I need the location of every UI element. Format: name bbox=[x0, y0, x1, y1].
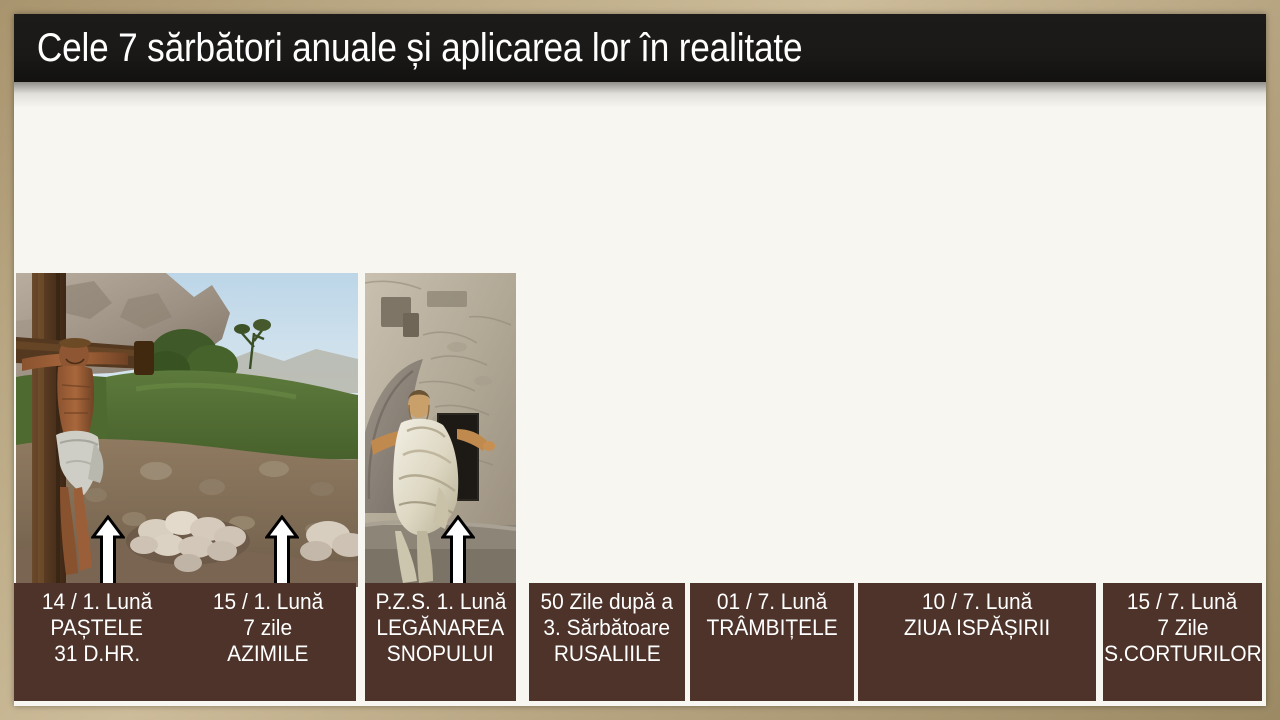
title-shadow bbox=[14, 82, 1266, 108]
presentation-slide: Cele 7 sărbători anuale și aplicarea lor… bbox=[0, 0, 1280, 720]
caption-line: 7 zile bbox=[244, 615, 293, 641]
caption-line: AZIMILE bbox=[227, 641, 308, 667]
caption-line: S.CORTURILOR bbox=[1104, 641, 1262, 667]
caption-line: 15 / 1. Lună bbox=[213, 589, 323, 615]
caption-line: 3. Sărbătoare bbox=[544, 615, 671, 641]
crucifixion-photo bbox=[16, 273, 358, 587]
crucifixion-photo-graphic bbox=[16, 273, 358, 587]
slide-surface: Cele 7 sărbători anuale și aplicarea lor… bbox=[14, 14, 1266, 706]
caption-box-trambitele[interactable]: 01 / 7. Lună TRÂMBIȚELE bbox=[690, 583, 854, 701]
caption-line: 50 Zile după a bbox=[541, 589, 673, 615]
caption-line: 01 / 7. Lună bbox=[717, 589, 827, 615]
caption-line: 15 / 7. Lună bbox=[1127, 589, 1237, 615]
caption-line: ZIUA ISPĂȘIRII bbox=[904, 615, 1050, 641]
caption-box-rusaliile[interactable]: 50 Zile după a 3. Sărbătoare RUSALIILE bbox=[529, 583, 685, 701]
caption-box-ziua-ispasirii[interactable]: 10 / 7. Lună ZIUA ISPĂȘIRII bbox=[858, 583, 1096, 701]
caption-box-azimile[interactable]: 15 / 1. Lună 7 zile AZIMILE bbox=[180, 583, 356, 701]
caption-box-pastele[interactable]: 14 / 1. Lună PAȘTELE 31 D.HR. bbox=[14, 583, 180, 701]
caption-box-sarbatoarea-corturilor[interactable]: 15 / 7. Lună 7 Zile S.CORTURILOR bbox=[1103, 583, 1262, 701]
caption-line: RUSALIILE bbox=[554, 641, 661, 667]
caption-box-leganarea-snopului[interactable]: P.Z.S. 1. Lună LEGĂNAREA SNOPULUI bbox=[365, 583, 516, 701]
page-title: Cele 7 sărbători anuale și aplicarea lor… bbox=[14, 25, 802, 71]
caption-line: PAȘTELE bbox=[51, 615, 144, 641]
caption-line: LEGĂNAREA bbox=[377, 615, 505, 641]
caption-line: 14 / 1. Lună bbox=[42, 589, 152, 615]
slide-title-bar: Cele 7 sărbători anuale și aplicarea lor… bbox=[14, 14, 1266, 82]
caption-line: P.Z.S. 1. Lună bbox=[375, 589, 506, 615]
caption-line: SNOPULUI bbox=[387, 641, 494, 667]
caption-line: TRÂMBIȚELE bbox=[706, 615, 837, 641]
caption-line: 7 Zile bbox=[1157, 615, 1208, 641]
caption-line: 10 / 7. Lună bbox=[922, 589, 1032, 615]
caption-line: 31 D.HR. bbox=[54, 641, 140, 667]
